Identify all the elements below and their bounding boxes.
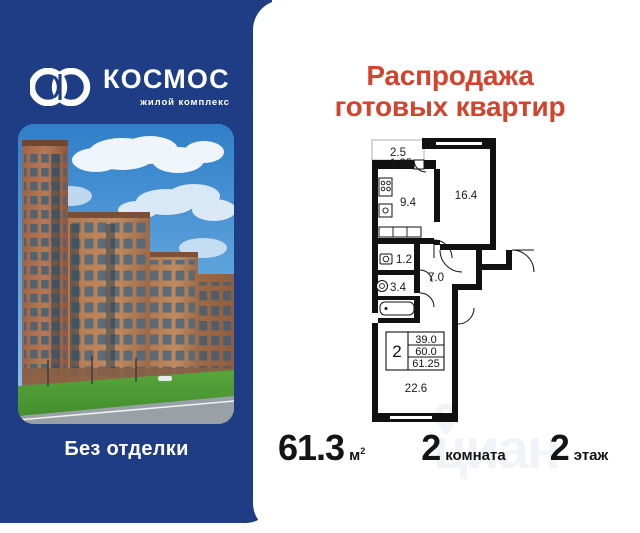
finish-caption: Без отделки: [0, 438, 253, 461]
svg-text:2: 2: [392, 342, 401, 361]
area-info-box: 2 39.0 60.0 61.25: [386, 332, 444, 370]
svg-text:61.25: 61.25: [412, 358, 440, 370]
svg-text:39.0: 39.0: [415, 334, 436, 346]
listing-stats: 61.3 м2 2 комната 2 этаж: [262, 430, 640, 476]
room-label-corridor: 7.0: [428, 272, 444, 284]
brand-title: КОСМОС: [103, 66, 230, 93]
stat-area-value: 61.3: [278, 430, 344, 466]
stat-rooms-value: 2: [421, 430, 440, 466]
listing-card: КОСМОС жилой комплекс: [0, 0, 640, 533]
brand-logo: КОСМОС жилой комплекс: [30, 60, 242, 114]
brand-subtitle: жилой комплекс: [103, 97, 230, 108]
room-label-living-room: 16.4: [455, 190, 478, 202]
headline-line-2: готовых квартир: [280, 91, 620, 122]
stat-floor-value: 2: [550, 430, 569, 466]
stat-rooms-unit: комната: [445, 447, 505, 464]
stat-floor: 2 этаж: [550, 430, 608, 466]
apartment-floorplan[interactable]: 2.5 1.25 9.4 16.4 1.2 7.0 3.4 22.6 2 39.…: [360, 136, 535, 428]
stat-rooms: 2 комната: [421, 430, 506, 466]
brand-panel: КОСМОС жилой комплекс: [0, 0, 272, 523]
room-label-kitchen: 9.4: [400, 197, 417, 209]
residential-building-photo: [18, 124, 234, 424]
infinity-icon: [30, 68, 92, 106]
room-label-hall: 3.4: [390, 282, 407, 294]
stat-floor-unit: этаж: [574, 447, 608, 464]
page-title: Распродажа готовых квартир: [280, 60, 620, 123]
brand-text: КОСМОС жилой комплекс: [103, 66, 230, 108]
room-label-balcony-b: 1.25: [390, 158, 412, 170]
room-label-bathroom: 1.2: [396, 254, 412, 266]
room-label-bedroom: 22.6: [405, 383, 427, 395]
headline-line-1: Распродажа: [280, 60, 620, 91]
svg-text:60.0: 60.0: [415, 346, 436, 358]
stat-area: 61.3 м2: [278, 430, 365, 466]
stat-area-unit: м2: [349, 446, 365, 464]
